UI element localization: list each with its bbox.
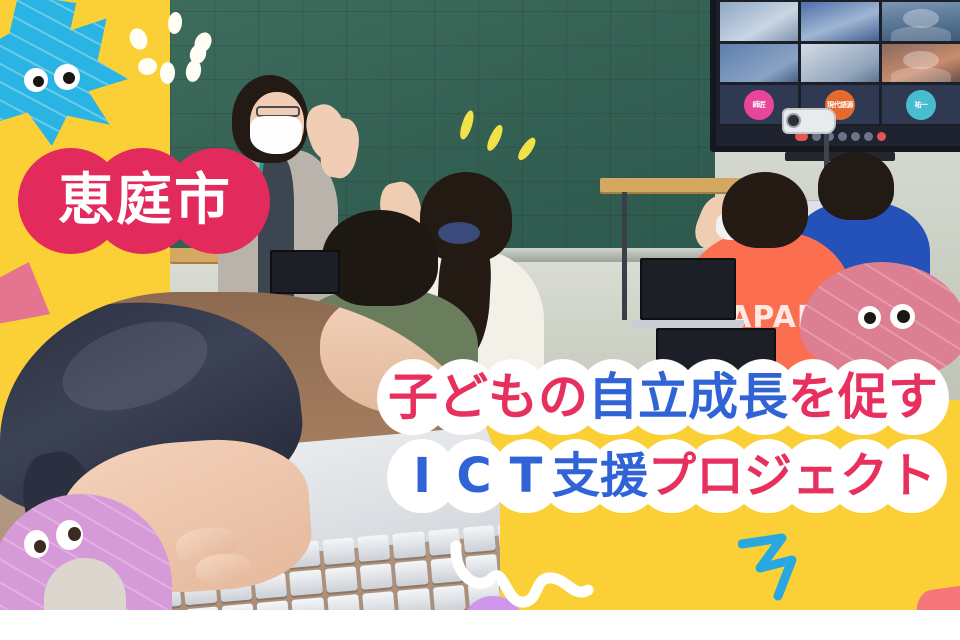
- headline-char-glyph: ェ: [792, 452, 840, 500]
- chat-icon[interactable]: [838, 132, 847, 141]
- headline-char: 自: [582, 360, 644, 434]
- headline-char-glyph: ト: [888, 452, 936, 500]
- headline-line-2: ICT支援プロジェクト: [0, 440, 960, 512]
- headline-char: ク: [834, 440, 894, 512]
- headline-char-glyph: 立: [638, 372, 688, 422]
- participant-tile[interactable]: [801, 2, 879, 41]
- headline-char: 長: [732, 360, 794, 434]
- city-badge: 恵庭市: [18, 148, 272, 254]
- headline-char: 立: [632, 360, 694, 434]
- participant-tile[interactable]: 祐一: [882, 85, 960, 124]
- participant-tile[interactable]: [882, 2, 960, 41]
- more-icon[interactable]: [864, 132, 873, 141]
- headline-char: の: [532, 360, 594, 434]
- headline-char: ロ: [690, 440, 750, 512]
- headline: 子どもの自立成長を促す ICT支援プロジェクト: [0, 360, 960, 512]
- headline-char: す: [882, 360, 944, 434]
- headline-char-glyph: の: [538, 372, 588, 422]
- headline-char: を: [782, 360, 844, 434]
- headline-char: ト: [882, 440, 942, 512]
- headline-char-glyph: ど: [438, 372, 488, 422]
- headline-char-glyph: プ: [648, 452, 696, 500]
- end-call-icon[interactable]: [877, 132, 886, 141]
- headline-char: 成: [682, 360, 744, 434]
- headline-char: 援: [594, 440, 654, 512]
- avatar: 祐一: [906, 90, 936, 120]
- headline-char-glyph: 促: [838, 372, 888, 422]
- headline-char-glyph: す: [888, 372, 938, 422]
- participant-tile[interactable]: [720, 2, 798, 41]
- headline-char: も: [482, 360, 544, 434]
- headline-char-glyph: T: [510, 452, 543, 500]
- headline-char-glyph: も: [488, 372, 538, 422]
- call-toolbar[interactable]: [716, 126, 960, 146]
- headline-char-glyph: ク: [840, 452, 888, 500]
- headline-char-glyph: 子: [388, 372, 438, 422]
- share-icon[interactable]: [851, 132, 860, 141]
- headline-char-glyph: 支: [552, 452, 600, 500]
- video-conference-screen[interactable]: 師匠 現代語源 祐一: [710, 0, 960, 152]
- participant-tile[interactable]: [801, 44, 879, 83]
- white-squiggle-icon: [448, 540, 598, 618]
- student-hair: [818, 152, 894, 220]
- participant-tile[interactable]: [720, 44, 798, 83]
- cyan-star-blob: [0, 0, 160, 160]
- headline-char: 支: [546, 440, 606, 512]
- headline-char-glyph: C: [456, 452, 491, 500]
- avatar: 師匠: [744, 90, 774, 120]
- banner-root: 師匠 現代語源 祐一: [0, 0, 960, 640]
- student-hair: [722, 172, 808, 248]
- headline-char: ジ: [738, 440, 798, 512]
- headline-char-glyph: を: [788, 372, 838, 422]
- hair-tie: [438, 222, 480, 244]
- headline-char-glyph: 長: [738, 372, 788, 422]
- camera-lens-icon: [786, 113, 801, 128]
- headline-char: 促: [832, 360, 894, 434]
- headline-char: プ: [642, 440, 702, 512]
- headline-char-glyph: 成: [688, 372, 738, 422]
- headline-char: ェ: [786, 440, 846, 512]
- headline-char-glyph: I: [413, 452, 431, 500]
- headline-char-glyph: ロ: [696, 452, 744, 500]
- participant-grid: 師匠 現代語源 祐一: [720, 2, 960, 124]
- headline-char-glyph: ジ: [744, 452, 792, 500]
- headline-line-1: 子どもの自立成長を促す: [0, 360, 960, 434]
- headline-char: ど: [432, 360, 494, 434]
- headline-char-glyph: 自: [588, 372, 638, 422]
- blue-zigzag-icon: [738, 532, 818, 602]
- headline-char-glyph: 援: [600, 452, 648, 500]
- bottom-white-border: [0, 610, 960, 640]
- headline-char: 子: [382, 360, 444, 434]
- city-badge-label: 恵庭市: [18, 148, 272, 254]
- participant-tile[interactable]: [882, 44, 960, 83]
